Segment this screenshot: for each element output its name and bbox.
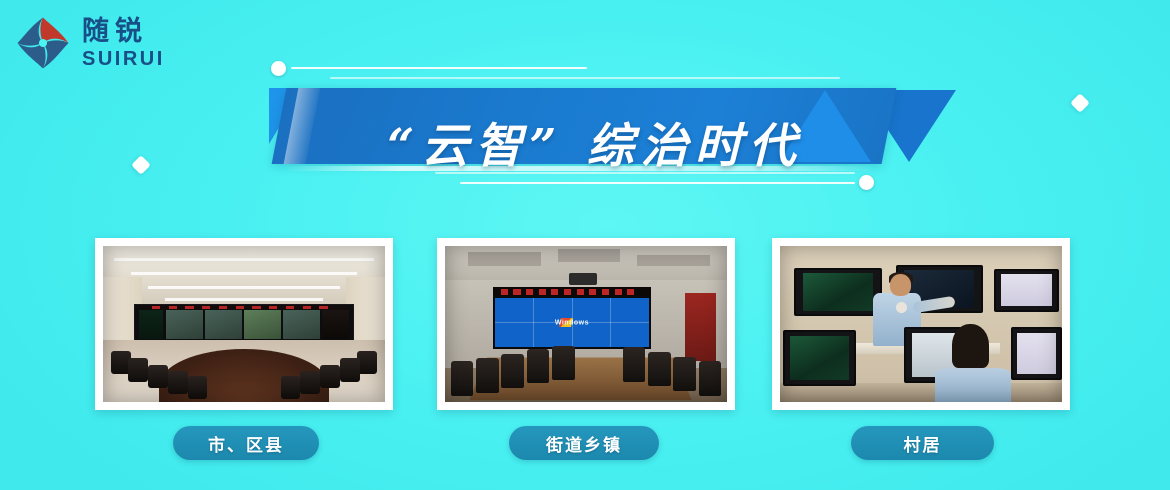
photo-frame [772,238,1070,410]
photo-township-meeting-room: Windows [445,246,727,402]
card-street-township[interactable]: Windows 街道乡镇 [437,238,735,410]
card-label-village[interactable]: 村居 [851,426,994,460]
brand-logo[interactable]: 随锐 SUIRUI [14,14,165,72]
deco-line-top-1 [291,67,587,69]
suirui-pinwheel-logo-icon [14,14,72,72]
deco-diamond-right [1070,93,1090,113]
photo-frame: Windows [437,238,735,410]
brand-name-en: SUIRUI [82,49,165,69]
deco-line-top-2 [330,77,840,79]
deco-dot-top-left [271,61,286,76]
deco-diamond-left [131,155,151,175]
photo-command-hall [103,246,385,402]
card-label-street-township[interactable]: 街道乡镇 [509,426,659,460]
page-title: “云智” 综治时代 [315,104,875,178]
slide-canvas: 随锐 SUIRUI “云智” 综治时代 [0,0,1170,490]
card-row: 市、区县 [0,238,1170,488]
card-city-district[interactable]: 市、区县 [95,238,393,410]
photo-monitoring-room [780,246,1062,402]
card-village[interactable]: 村居 [772,238,1070,410]
deco-line-bottom-2 [460,182,855,184]
brand-name-cn: 随锐 [82,18,165,45]
title-banner-group: “云智” 综治时代 [255,52,955,192]
photo-frame [95,238,393,410]
card-label-city-district[interactable]: 市、区县 [173,426,319,460]
